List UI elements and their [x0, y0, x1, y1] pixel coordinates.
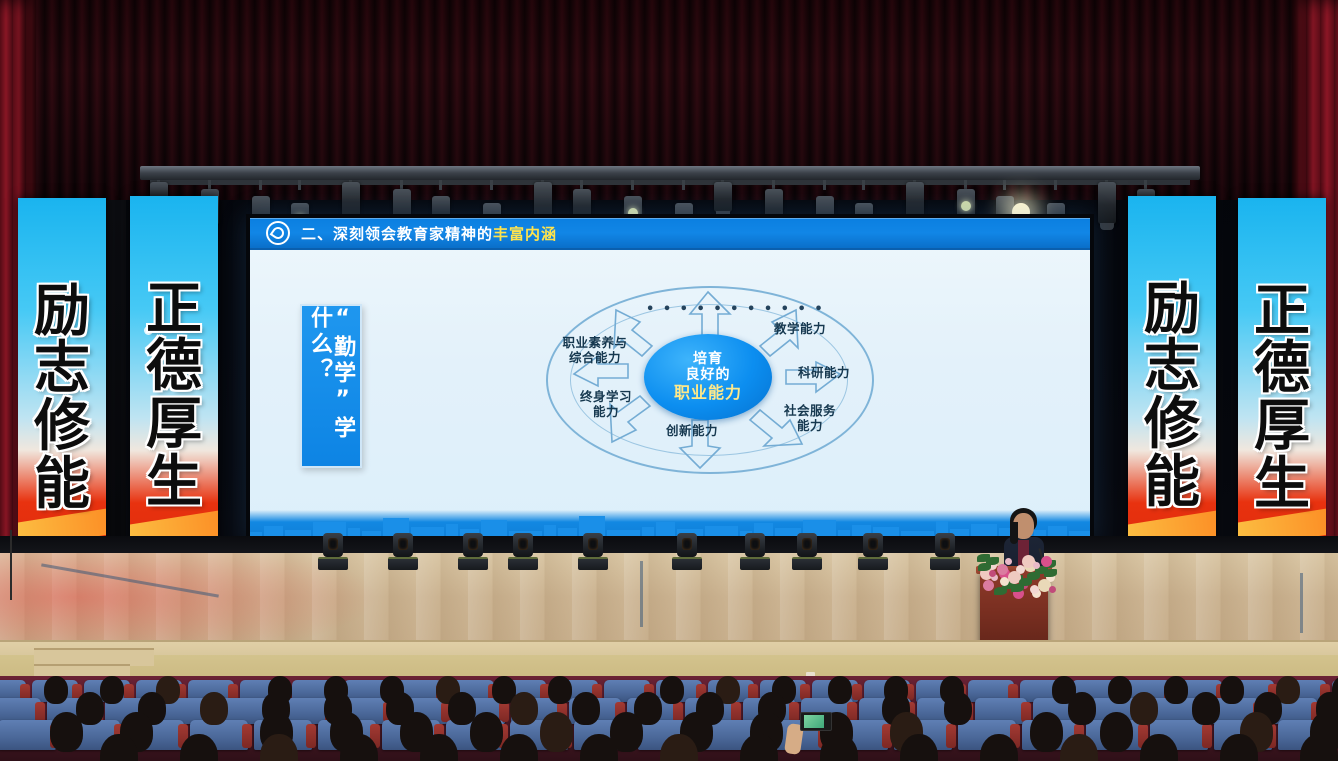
seat-divider: [1021, 702, 1031, 722]
moving-head-light: [792, 533, 822, 569]
banner-char: 能: [34, 458, 90, 512]
diagram-label-lifelong-learning: 终身学习 能力: [558, 390, 654, 419]
banner-char: 能: [1144, 456, 1200, 510]
audience-member-head: [1130, 692, 1158, 725]
flower-leaf: [1011, 584, 1024, 592]
microphone-stand: [10, 530, 12, 600]
slide-title: 二、深刻领会教育家精神的丰富内涵: [301, 223, 557, 244]
projection-screen: 二、深刻领会教育家精神的丰富内涵 “勤学”学什么？ • • • • • • • …: [246, 214, 1094, 544]
lamp-hanger: [298, 180, 301, 190]
moving-head-light: [578, 533, 608, 569]
seat-divider: [242, 724, 252, 748]
lighting-truss: [140, 166, 1200, 180]
flower-leaf: [1044, 569, 1057, 577]
flower-leaf: [978, 563, 991, 571]
slide-title-underline: [250, 248, 1090, 250]
audience-member-head: [660, 676, 684, 704]
banner-char: 生: [1254, 458, 1310, 512]
lamp-hanger: [823, 180, 826, 190]
audience-member-head: [944, 692, 972, 725]
auditorium-seat[interactable]: [0, 720, 56, 750]
audience-member-head: [1164, 676, 1188, 704]
floral-arrangement: [975, 552, 1053, 596]
banner-char: 志: [34, 342, 90, 396]
seat-divider: [1202, 724, 1212, 748]
flower-bloom: [1049, 586, 1056, 593]
banner-char: 德: [1254, 342, 1310, 396]
audience-member-head: [510, 692, 538, 725]
lamp-hanger: [862, 180, 865, 190]
moving-head-light: [388, 533, 418, 569]
audience-member-head: [572, 692, 600, 725]
diagram-core-line1: 培育: [693, 352, 723, 368]
banner-char: 修: [34, 400, 90, 454]
audience-member-head: [470, 712, 503, 752]
lamp-hanger: [490, 180, 493, 190]
banner-char: 励: [34, 285, 90, 339]
moving-head-light: [508, 533, 538, 569]
moving-head-light: [740, 533, 770, 569]
seat-divider: [946, 724, 956, 748]
competency-cycle-diagram: • • • • • • • • • • • 培育: [540, 278, 876, 478]
lamp-hanger: [631, 180, 634, 190]
floor-seam: [1300, 573, 1303, 633]
audience-member-head: [44, 676, 68, 704]
banner-char: 生: [146, 456, 202, 510]
moving-head-light: [672, 533, 702, 569]
flower-bloom: [989, 570, 996, 577]
seat-divider: [673, 702, 683, 722]
moving-head-light: [458, 533, 488, 569]
seat-divider: [852, 684, 862, 700]
stage-lamp-icon: [714, 182, 732, 212]
diagram-label-professional-quality: 职业素养与 综合能力: [542, 336, 648, 365]
phone-screen: [804, 715, 824, 728]
audience-member-head: [50, 712, 83, 752]
banner-char: 厚: [146, 398, 202, 452]
audience-member-head: [1100, 712, 1133, 752]
auditorium-scene: 励 志 修 能 正 德 厚 生 励 志 修 能 正 德 厚 生: [0, 0, 1338, 761]
audience-member-head: [200, 692, 228, 725]
flower-bloom: [983, 580, 994, 591]
seat-divider: [499, 702, 509, 722]
diagram-label-research: 科研能力: [778, 366, 870, 381]
seat-divider: [789, 702, 799, 722]
moving-head-light: [930, 533, 960, 569]
flower-bloom: [1030, 585, 1039, 594]
diagram-label-social-service: 社会服务 能力: [764, 404, 856, 433]
moving-head-light: [318, 533, 348, 569]
banner-char: 修: [1144, 398, 1200, 452]
stage-lamp-icon: [1098, 182, 1116, 224]
audience-member-head: [1192, 692, 1220, 725]
spiral-swirl-logo-icon: [266, 221, 290, 245]
flower-leaf: [994, 587, 1007, 595]
moving-head-light: [858, 533, 888, 569]
stage-lamp-icon: [906, 182, 924, 218]
seat-divider: [306, 724, 316, 748]
audience-member-head: [828, 676, 852, 704]
diagram-core-line2: 良好的: [686, 368, 731, 384]
lamp-hanger: [1003, 180, 1006, 190]
slide-title-bar: 二、深刻领会教育家精神的丰富内涵: [250, 218, 1090, 248]
lamp-hanger: [259, 180, 262, 190]
callout-question-text: “勤学”学什么？: [308, 306, 354, 466]
audience-member-head: [1030, 712, 1063, 752]
banner-char: 志: [1144, 340, 1200, 394]
slide-title-prefix: 二、深刻领会教育家精神的: [301, 225, 493, 243]
audience-member-head: [1108, 676, 1132, 704]
audience-member-head: [100, 676, 124, 704]
lamp-hanger: [439, 180, 442, 190]
smartphone-recording[interactable]: [800, 712, 832, 731]
presentation-slide: 二、深刻领会教育家精神的丰富内涵 “勤学”学什么？ • • • • • • • …: [250, 218, 1090, 540]
flower-bloom: [1041, 556, 1052, 567]
flower-bloom: [1033, 562, 1040, 569]
banner-char: 正: [1254, 285, 1310, 339]
flower-bloom: [997, 564, 1008, 575]
audience-member-head: [1068, 692, 1096, 725]
audience-member-head: [1220, 676, 1244, 704]
diagram-core: 培育 良好的 职业能力: [644, 334, 772, 420]
flower-bloom: [1000, 577, 1009, 586]
lamp-hanger: [1054, 180, 1057, 190]
audience-member-head: [548, 676, 572, 704]
banner-char: 德: [146, 340, 202, 394]
lighting-truss-lower-bar: [150, 180, 1190, 185]
seat-divider: [731, 702, 741, 722]
banner-char: 正: [146, 283, 202, 337]
flower-bloom: [1005, 558, 1012, 565]
audience-member-head: [540, 712, 573, 752]
diagram-core-line3: 职业能力: [674, 384, 742, 403]
stage-lamp-icon: [342, 182, 360, 218]
banner-char: 励: [1144, 283, 1200, 337]
lamp-hanger: [682, 180, 685, 190]
slide-title-highlight: 丰富内涵: [493, 225, 557, 243]
diagram-label-innovation: 创新能力: [646, 424, 738, 439]
diagram-label-teaching: 教学能力: [754, 322, 846, 337]
banner-char: 厚: [1254, 400, 1310, 454]
seat-divider: [35, 702, 45, 722]
callout-question-box: “勤学”学什么？: [300, 304, 362, 468]
speaker-hair-side: [1010, 522, 1018, 544]
floor-seam: [640, 561, 643, 627]
